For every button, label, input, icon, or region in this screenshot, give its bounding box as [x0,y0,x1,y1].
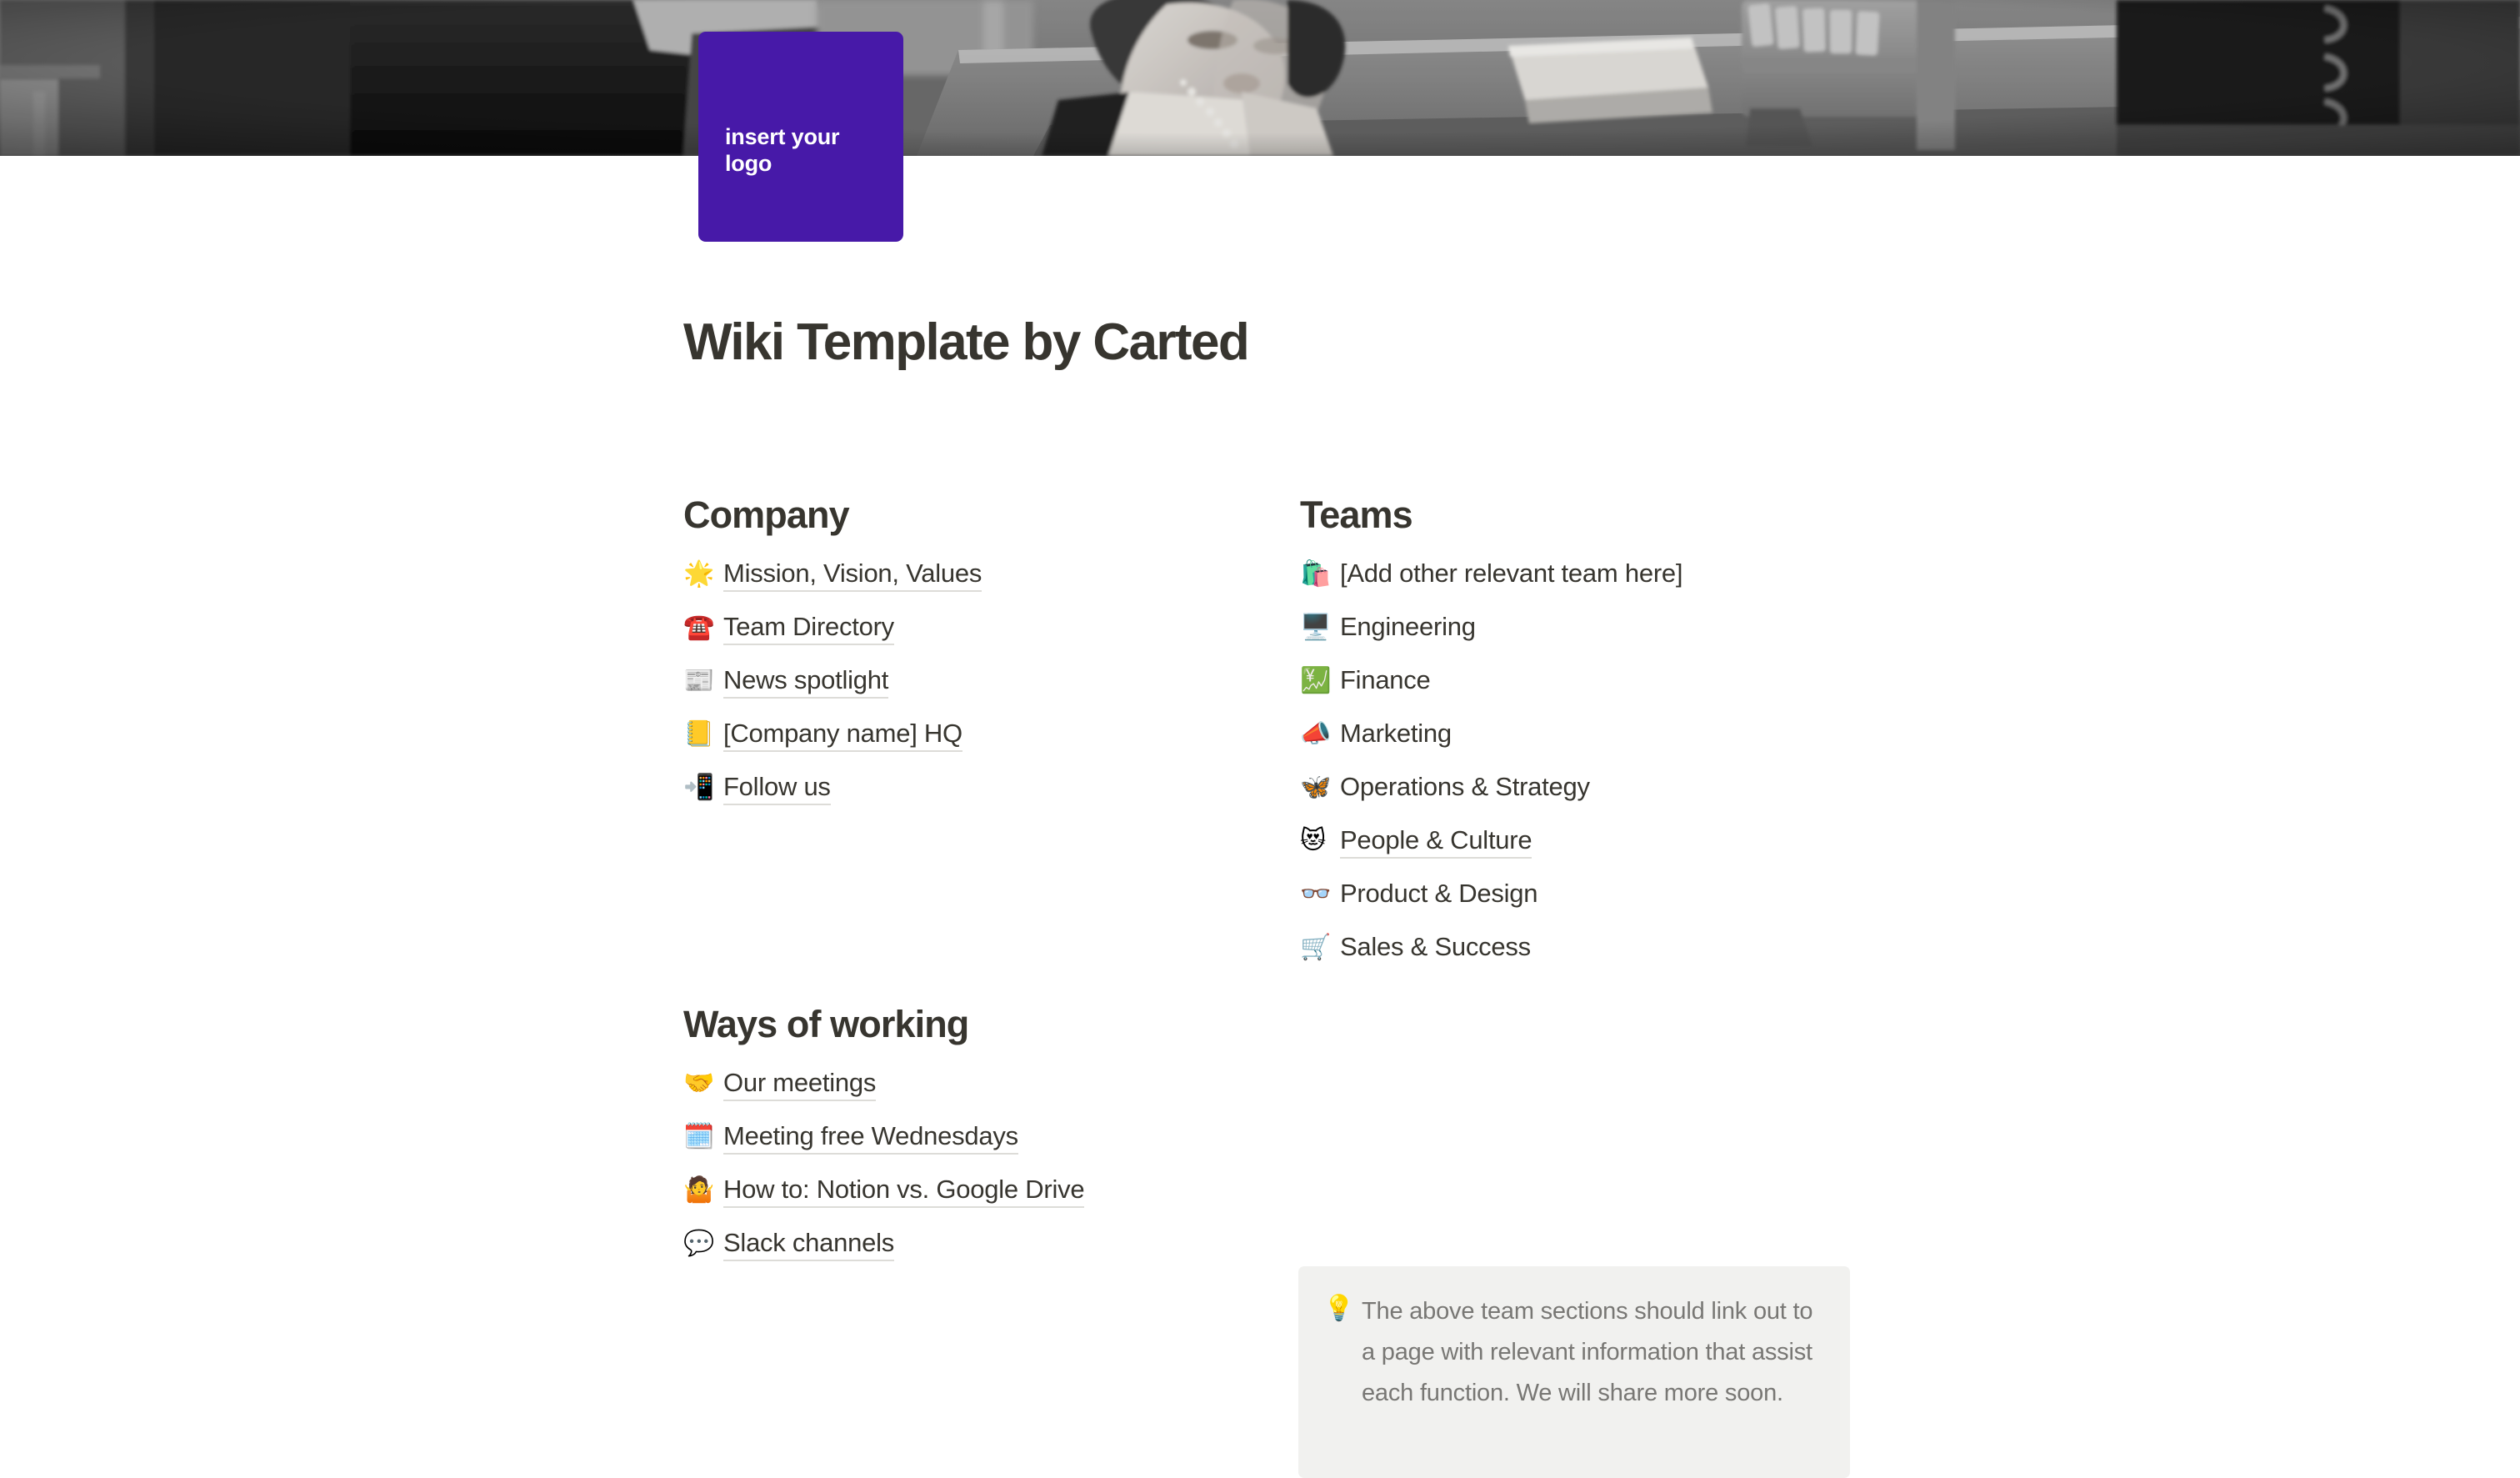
section-heading-ways-of-working: Ways of working [683,1003,1283,1046]
list-item[interactable]: 📒 [Company name] HQ [683,720,1283,774]
link-people-culture[interactable]: People & Culture [1340,827,1532,859]
telephone-icon: ☎️ [683,615,723,640]
item-product-design[interactable]: Product & Design [1340,880,1537,906]
list-item[interactable]: 🖥️ Engineering [1300,614,1900,667]
item-marketing[interactable]: Marketing [1340,720,1452,746]
megaphone-icon: 📣 [1300,722,1340,747]
heart-eyes-cat-icon: 😻 [1300,829,1340,854]
item-finance[interactable]: Finance [1340,667,1431,693]
page-body: Wiki Template by Carted Company 🌟 Missio… [0,156,2520,1359]
list-item[interactable]: 👓 Product & Design [1300,880,1900,934]
company-link-list: 🌟 Mission, Vision, Values ☎️ Team Direct… [683,560,1283,827]
item-sales-success[interactable]: Sales & Success [1340,934,1531,959]
link-our-meetings[interactable]: Our meetings [723,1070,876,1101]
item-add-other-team[interactable]: [Add other relevant team here] [1340,560,1682,586]
list-item[interactable]: 📣 Marketing [1300,720,1900,774]
page-logo[interactable]: insert your logo [698,32,903,242]
section-heading-company: Company [683,494,1283,537]
handshake-icon: 🤝 [683,1071,723,1096]
link-news-spotlight[interactable]: News spotlight [723,667,888,699]
link-meeting-free-wednesdays[interactable]: Meeting free Wednesdays [723,1123,1018,1155]
list-item[interactable]: 🛒 Sales & Success [1300,934,1900,987]
link-follow-us[interactable]: Follow us [723,774,831,805]
butterfly-icon: 🦋 [1300,775,1340,800]
newspaper-icon: 📰 [683,669,723,694]
speech-balloon-icon: 💬 [683,1231,723,1256]
section-company: Company 🌟 Mission, Vision, Values ☎️ Tea… [683,494,1283,827]
list-item[interactable]: 📲 Follow us [683,774,1283,827]
ways-link-list: 🤝 Our meetings 🗓️ Meeting free Wednesday… [683,1070,1283,1283]
section-ways-of-working: Ways of working 🤝 Our meetings 🗓️ Meetin… [683,1003,1283,1283]
shopping-bags-icon: 🛍️ [1300,562,1340,587]
list-item[interactable]: ☎️ Team Directory [683,614,1283,667]
mobile-phone-arrow-icon: 📲 [683,775,723,800]
link-team-directory[interactable]: Team Directory [723,614,894,645]
link-slack-channels[interactable]: Slack channels [723,1230,894,1261]
person-shrugging-icon: 🤷 [683,1178,723,1203]
glowing-star-icon: 🌟 [683,562,723,587]
spiral-calendar-icon: 🗓️ [683,1125,723,1150]
callout-text: The above team sections should link out … [1362,1291,1822,1414]
list-item[interactable]: 🛍️ [Add other relevant team here] [1300,560,1900,614]
list-item[interactable]: 🌟 Mission, Vision, Values [683,560,1283,614]
cover-photo [0,0,2520,156]
list-item[interactable]: 💹 Finance [1300,667,1900,720]
chart-increasing-yen-icon: 💹 [1300,669,1340,694]
section-teams: Teams 🛍️ [Add other relevant team here] … [1300,494,1900,987]
list-item[interactable]: 💬 Slack channels [683,1230,1283,1283]
cover-image[interactable] [0,0,2520,156]
light-bulb-icon: 💡 [1323,1291,1362,1326]
logo-label: insert your logo [725,123,883,178]
list-item[interactable]: 🗓️ Meeting free Wednesdays [683,1123,1283,1176]
callout-block[interactable]: 💡 The above team sections should link ou… [1298,1266,1850,1478]
link-mission-vision-values[interactable]: Mission, Vision, Values [723,560,982,592]
link-company-hq[interactable]: [Company name] HQ [723,720,962,752]
shopping-cart-icon: 🛒 [1300,935,1340,960]
link-notion-vs-google-drive[interactable]: How to: Notion vs. Google Drive [723,1176,1084,1208]
item-operations-strategy[interactable]: Operations & Strategy [1340,774,1590,799]
list-item[interactable]: 😻 People & Culture [1300,827,1900,880]
glasses-icon: 👓 [1300,882,1340,907]
page-title: Wiki Template by Carted [683,314,1248,371]
ledger-book-icon: 📒 [683,722,723,747]
item-engineering[interactable]: Engineering [1340,614,1476,639]
list-item[interactable]: 🦋 Operations & Strategy [1300,774,1900,827]
list-item[interactable]: 📰 News spotlight [683,667,1283,720]
list-item[interactable]: 🤷 How to: Notion vs. Google Drive [683,1176,1283,1230]
teams-link-list: 🛍️ [Add other relevant team here] 🖥️ Eng… [1300,560,1900,987]
desktop-computer-icon: 🖥️ [1300,615,1340,640]
list-item[interactable]: 🤝 Our meetings [683,1070,1283,1123]
section-heading-teams: Teams [1300,494,1900,537]
